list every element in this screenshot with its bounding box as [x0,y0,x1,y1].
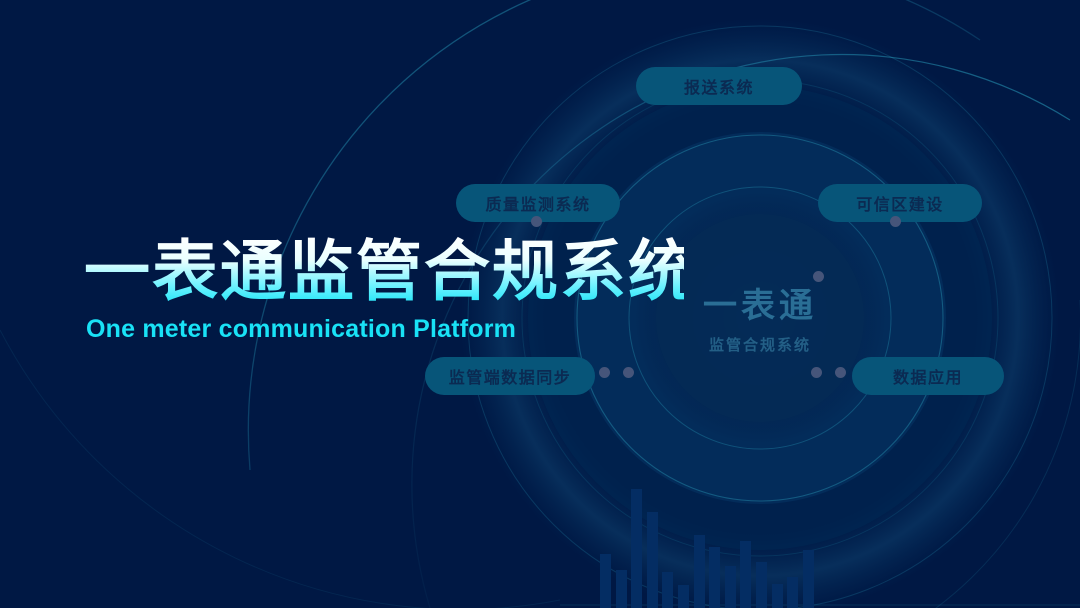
node-pill-trust[interactable]: 可信区建设 [818,184,982,222]
node-pill-sync[interactable]: 监管端数据同步 [425,357,595,395]
bar-chart-bar [709,547,720,608]
node-pill-apply[interactable]: 数据应用 [852,357,1004,395]
connector-dot-inner-right [813,271,824,282]
bar-chart-bar [725,566,736,608]
bar-chart-bar [662,572,673,608]
bar-chart-bar [600,554,611,608]
bar-chart-bar [647,512,658,608]
connector-dot-apply-outer [835,367,846,378]
headline-block: 一表通监管合规系统 One meter communication Platfo… [84,236,684,344]
connector-dot-sync-inner [599,367,610,378]
bar-chart-bar [616,570,627,608]
decorative-bar-chart [600,480,820,608]
bar-chart-bar [678,585,689,608]
slide-canvas: 一表通监管合规系统 One meter communication Platfo… [0,0,1080,608]
page-title: 一表通监管合规系统 [84,236,684,307]
node-pill-report[interactable]: 报送系统 [636,67,802,105]
bar-chart-bar [694,535,705,608]
connector-dot-sync-outer [623,367,634,378]
hub-subtitle: 监管合规系统 [660,334,860,355]
bar-chart-bar [787,577,798,608]
connector-dot-quality [531,216,542,227]
bar-chart-bar [772,584,783,608]
connector-dot-apply-inner [811,367,822,378]
bar-chart-bar [756,562,767,608]
page-subtitle: One meter communication Platform [86,315,684,344]
connector-dot-trust [890,216,901,227]
bar-chart-bar [803,550,814,608]
bar-chart-bar [740,541,751,608]
bar-chart-bar [631,489,642,608]
